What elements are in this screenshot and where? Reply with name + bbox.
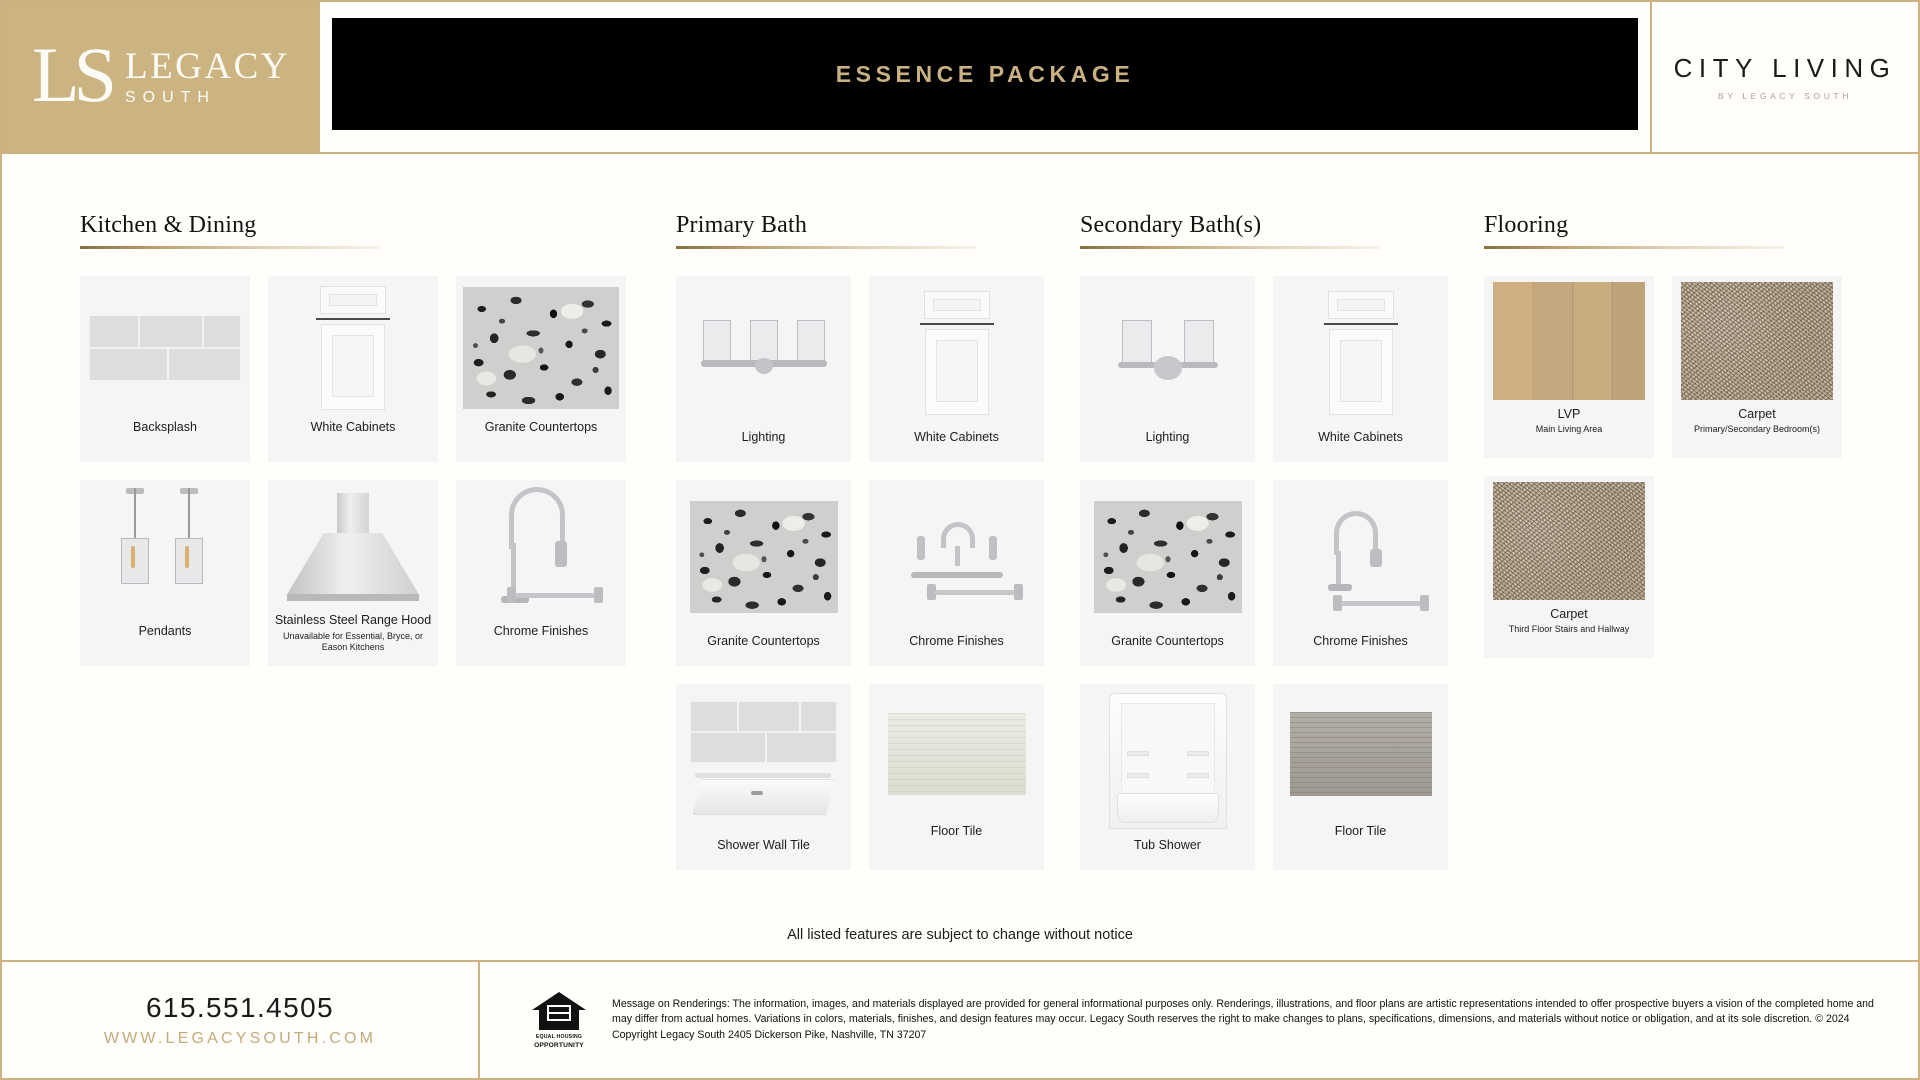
tile-row: Backsplash White Cabinets Granite Counte… bbox=[80, 276, 676, 462]
tile-label: Granite Countertops bbox=[481, 420, 602, 436]
tile-secondary-lighting[interactable]: Lighting bbox=[1080, 276, 1255, 462]
tile-row: Granite Countertops bbox=[1080, 480, 1484, 666]
tile-row: Lighting White Cabinets bbox=[1080, 276, 1484, 462]
subway-tile-swatch bbox=[80, 276, 250, 420]
city-living-wordmark: CITY LIVING bbox=[1674, 53, 1897, 84]
tile-backsplash[interactable]: Backsplash bbox=[80, 276, 250, 462]
tile-label: Lighting bbox=[738, 430, 790, 446]
tub-shower-icon bbox=[1080, 684, 1255, 838]
tile-primary-granite[interactable]: Granite Countertops bbox=[676, 480, 851, 666]
section-title: Primary Bath bbox=[676, 212, 1080, 239]
tile-primary-floor-tile[interactable]: Floor Tile bbox=[869, 684, 1044, 870]
granite-swatch bbox=[1080, 480, 1255, 634]
tile-range-hood[interactable]: Stainless Steel Range Hood Unavailable f… bbox=[268, 480, 438, 666]
website-url[interactable]: WWW.LEGACYSOUTH.COM bbox=[104, 1030, 376, 1048]
tile-label: White Cabinets bbox=[307, 420, 400, 436]
tile-row: Lighting White Cabinets bbox=[676, 276, 1080, 462]
tile-label: Chrome Finishes bbox=[1309, 634, 1411, 650]
page-footer: 615.551.4505 WWW.LEGACYSOUTH.COM EQUAL H… bbox=[2, 960, 1918, 1078]
eho-label-line1: EQUAL HOUSING bbox=[536, 1035, 582, 1041]
tile-row: Granite Countertops Chrome Finishes bbox=[676, 480, 1080, 666]
cabinet-door-swatch bbox=[869, 276, 1044, 430]
brand-subname: SOUTH bbox=[125, 90, 290, 106]
tile-label: Shower Wall Tile bbox=[713, 838, 814, 854]
page-header: LS LEGACY SOUTH ESSENCE PACKAGE CITY LIV… bbox=[2, 2, 1918, 154]
legacy-south-logo: LS LEGACY SOUTH bbox=[2, 2, 320, 152]
change-notice: All listed features are subject to chang… bbox=[2, 927, 1918, 943]
tile-label: Granite Countertops bbox=[703, 634, 824, 650]
city-living-tagline: BY LEGACY SOUTH bbox=[1718, 91, 1852, 101]
kitchen-faucet-icon bbox=[456, 480, 626, 624]
tile-primary-white-cabinets[interactable]: White Cabinets bbox=[869, 276, 1044, 462]
tile-label: Tub Shower bbox=[1130, 838, 1205, 854]
tile-label: Carpet bbox=[1505, 607, 1634, 623]
section-primary-bath: Primary Bath Lighting Whi bbox=[676, 212, 1080, 888]
cabinet-door-swatch bbox=[1273, 276, 1448, 430]
section-title: Secondary Bath(s) bbox=[1080, 212, 1484, 239]
bath-faucet-icon bbox=[1273, 480, 1448, 634]
tile-row: Shower Wall Tile Floor Tile bbox=[676, 684, 1080, 870]
tile-carpet-bedrooms[interactable]: Carpet Primary/Secondary Bedroom(s) bbox=[1672, 276, 1842, 458]
shower-base-icon bbox=[676, 684, 851, 838]
tile-chrome-finishes[interactable]: Chrome Finishes bbox=[456, 480, 626, 666]
package-sheet: LS LEGACY SOUTH ESSENCE PACKAGE CITY LIV… bbox=[0, 0, 1920, 1080]
tile-sublabel: Primary/Secondary Bedroom(s) bbox=[1690, 424, 1824, 436]
tile-secondary-white-cabinets[interactable]: White Cabinets bbox=[1273, 276, 1448, 462]
tile-carpet-stairs[interactable]: Carpet Third Floor Stairs and Hallway bbox=[1484, 476, 1654, 658]
tile-sublabel: Unavailable for Essential, Bryce, or Eas… bbox=[268, 631, 438, 654]
tile-label: Floor Tile bbox=[927, 824, 986, 840]
three-light-vanity-icon bbox=[676, 276, 851, 430]
section-rule bbox=[1080, 246, 1380, 249]
phone-number[interactable]: 615.551.4505 bbox=[146, 992, 334, 1024]
tile-label: Floor Tile bbox=[1331, 824, 1390, 840]
granite-swatch bbox=[456, 276, 626, 420]
city-living-logo: CITY LIVING BY LEGACY SOUTH bbox=[1650, 2, 1918, 152]
tile-row: Carpet Third Floor Stairs and Hallway bbox=[1484, 476, 1864, 658]
tile-lvp[interactable]: LVP Main Living Area bbox=[1484, 276, 1654, 458]
tile-label: Chrome Finishes bbox=[905, 634, 1007, 650]
package-columns: Kitchen & Dining Backsplash bbox=[2, 154, 1918, 888]
tile-label: LVP bbox=[1532, 407, 1607, 423]
tile-row: Tub Shower Floor Tile bbox=[1080, 684, 1484, 870]
tile-label: Backsplash bbox=[129, 420, 201, 436]
package-title: ESSENCE PACKAGE bbox=[836, 61, 1135, 88]
granite-swatch bbox=[676, 480, 851, 634]
tile-shower-wall-tile[interactable]: Shower Wall Tile bbox=[676, 684, 851, 870]
eho-label-line2: OPPORTUNITY bbox=[534, 1042, 584, 1050]
lvp-plank-swatch bbox=[1484, 276, 1654, 407]
tile-row: LVP Main Living Area Carpet Primary/Seco… bbox=[1484, 276, 1864, 458]
section-rule bbox=[80, 246, 380, 249]
tile-label: Pendants bbox=[135, 624, 196, 640]
pendant-light-icon bbox=[80, 480, 250, 624]
tile-label: Carpet bbox=[1690, 407, 1824, 423]
two-light-vanity-icon bbox=[1080, 276, 1255, 430]
tile-label: Chrome Finishes bbox=[490, 624, 592, 640]
widespread-faucet-icon bbox=[869, 480, 1044, 634]
tile-sublabel: Third Floor Stairs and Hallway bbox=[1505, 624, 1634, 636]
section-title: Kitchen & Dining bbox=[80, 212, 676, 239]
tile-tub-shower[interactable]: Tub Shower bbox=[1080, 684, 1255, 870]
tile-label: White Cabinets bbox=[1314, 430, 1407, 446]
equal-housing-opportunity-icon: EQUAL HOUSING OPPORTUNITY bbox=[528, 990, 590, 1050]
footer-contact: 615.551.4505 WWW.LEGACYSOUTH.COM bbox=[2, 962, 480, 1078]
tile-label: Lighting bbox=[1142, 430, 1194, 446]
disclaimer-text: Message on Renderings: The information, … bbox=[612, 997, 1888, 1042]
tile-row: Pendants Stainless Steel Range Hood Unav… bbox=[80, 480, 676, 666]
cabinet-door-swatch bbox=[268, 276, 438, 420]
tile-label: White Cabinets bbox=[910, 430, 1003, 446]
title-band: ESSENCE PACKAGE bbox=[320, 2, 1650, 152]
section-kitchen-dining: Kitchen & Dining Backsplash bbox=[80, 212, 676, 684]
range-hood-icon bbox=[268, 480, 438, 613]
carpet-swatch bbox=[1484, 476, 1654, 607]
tile-label: Granite Countertops bbox=[1107, 634, 1228, 650]
section-rule bbox=[676, 246, 976, 249]
tile-primary-chrome[interactable]: Chrome Finishes bbox=[869, 480, 1044, 666]
tile-white-cabinets[interactable]: White Cabinets bbox=[268, 276, 438, 462]
grey-floor-tile-swatch bbox=[1273, 684, 1448, 824]
light-floor-tile-swatch bbox=[869, 684, 1044, 824]
ls-monogram-icon: LS bbox=[32, 42, 111, 108]
tile-secondary-chrome[interactable]: Chrome Finishes bbox=[1273, 480, 1448, 666]
tile-primary-lighting[interactable]: Lighting bbox=[676, 276, 851, 462]
footer-legal: EQUAL HOUSING OPPORTUNITY Message on Ren… bbox=[480, 962, 1918, 1078]
tile-secondary-floor-tile[interactable]: Floor Tile bbox=[1273, 684, 1448, 870]
tile-sublabel: Main Living Area bbox=[1532, 424, 1607, 436]
section-rule bbox=[1484, 246, 1784, 249]
section-title: Flooring bbox=[1484, 212, 1864, 239]
carpet-swatch bbox=[1672, 276, 1842, 407]
tile-granite-countertops[interactable]: Granite Countertops bbox=[456, 276, 626, 462]
tile-label: Stainless Steel Range Hood bbox=[268, 613, 438, 629]
section-secondary-bath: Secondary Bath(s) Lighting bbox=[1080, 212, 1484, 888]
section-flooring: Flooring LVP Main Living Area Carpet Pri… bbox=[1484, 212, 1864, 676]
brand-name: LEGACY bbox=[125, 48, 290, 85]
tile-secondary-granite[interactable]: Granite Countertops bbox=[1080, 480, 1255, 666]
tile-pendants[interactable]: Pendants bbox=[80, 480, 250, 666]
